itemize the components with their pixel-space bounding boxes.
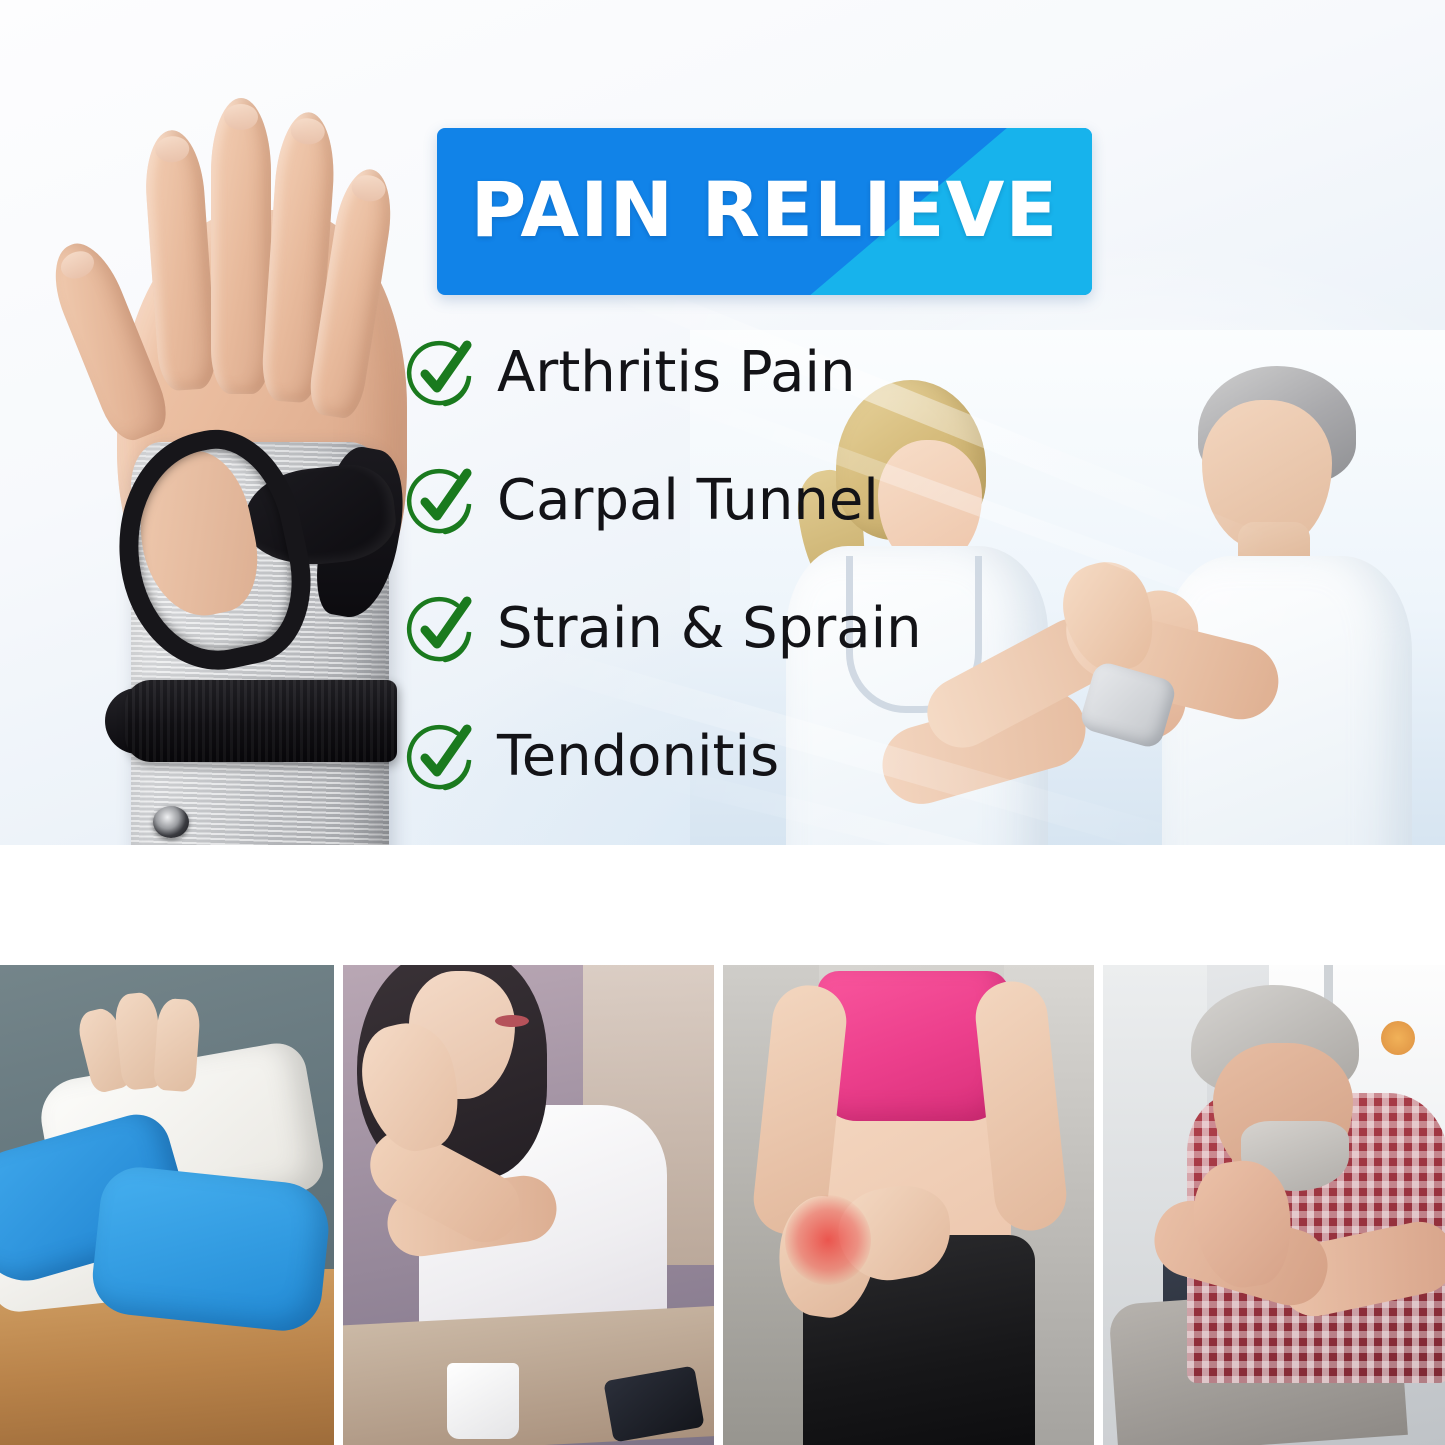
use-case-photo-strip <box>0 965 1445 1445</box>
feature-label: Tendonitis <box>497 729 779 785</box>
panel-divider <box>714 965 723 1445</box>
blue-glove-right <box>89 1163 333 1334</box>
check-circle-icon <box>405 592 479 666</box>
feature-label: Strain & Sprain <box>497 601 922 657</box>
panel-divider <box>334 965 343 1445</box>
feature-item-carpal-tunnel: Carpal Tunnel <box>405 458 1025 544</box>
hero-section: PAIN RELIEVE Arthritis Pain <box>0 0 1445 1010</box>
fingernail <box>57 247 98 284</box>
feature-label: Carpal Tunnel <box>497 473 879 529</box>
brace-velcro-strap <box>125 680 397 762</box>
fingernail <box>154 135 190 163</box>
coffee-mug <box>447 1363 519 1439</box>
check-circle-icon <box>405 464 479 538</box>
feature-item-strain-sprain: Strain & Sprain <box>405 586 1025 672</box>
pain-relieve-banner: PAIN RELIEVE <box>437 128 1092 295</box>
pain-highlight <box>785 1195 871 1285</box>
product-photo-wrist-brace <box>55 60 425 940</box>
patient-finger <box>153 998 201 1093</box>
feature-label: Arthritis Pain <box>497 345 855 401</box>
strip-panel-elderly-wrist-pain <box>1103 965 1445 1445</box>
strip-panel-cast-application <box>0 965 334 1445</box>
panel-divider <box>1094 965 1103 1445</box>
feature-list: Arthritis Pain Carpal Tunnel <box>405 330 1025 842</box>
check-circle-icon <box>405 336 479 410</box>
feature-item-tendonitis: Tendonitis <box>405 714 1025 800</box>
check-circle-icon <box>405 720 479 794</box>
strip-panel-gym-wrist-injury <box>723 965 1094 1445</box>
strip-panel-office-wrist-pain <box>343 965 714 1445</box>
patient-figure <box>1070 340 1445 930</box>
banner-title: PAIN RELIEVE <box>437 128 1092 295</box>
wrist-brace <box>117 430 411 910</box>
brace-grommet-icon <box>153 806 189 838</box>
flower-decor <box>1381 1021 1415 1055</box>
feature-item-arthritis-pain: Arthritis Pain <box>405 330 1025 416</box>
lips <box>495 1015 529 1027</box>
fingernail <box>224 104 258 130</box>
middle-finger <box>211 98 271 394</box>
fingernail <box>290 117 326 145</box>
product-marketing-image: PAIN RELIEVE Arthritis Pain <box>0 0 1445 1445</box>
fingernail <box>350 173 388 204</box>
